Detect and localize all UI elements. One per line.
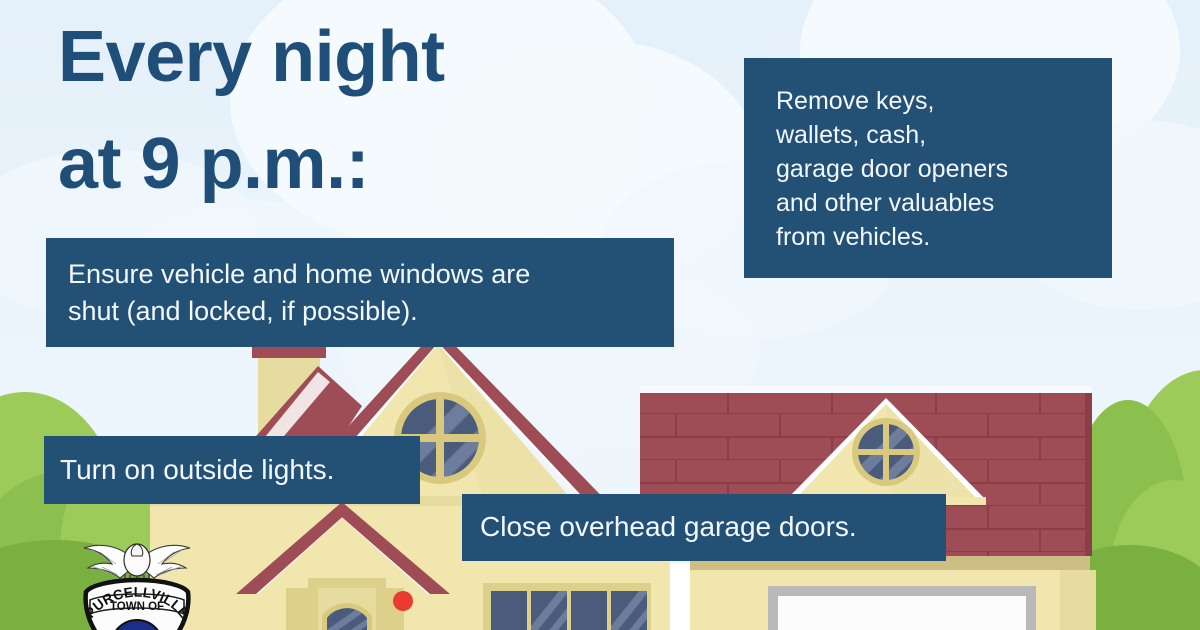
tip-box-garage: Close overhead garage doors. — [462, 494, 946, 561]
police-badge-logo: TOWN OF PURCELLVILLE POLICE — [62, 534, 212, 630]
infographic-poster: Every night at 9 p.m.: Remove keys, wall… — [0, 0, 1200, 630]
tip-box-lights: Turn on outside lights. — [44, 436, 420, 504]
tip-box-windows: Ensure vehicle and home windows are shut… — [46, 238, 674, 347]
tip-box-valuables: Remove keys, wallets, cash, garage door … — [744, 58, 1112, 278]
page-title: Every night at 9 p.m.: — [58, 4, 758, 217]
